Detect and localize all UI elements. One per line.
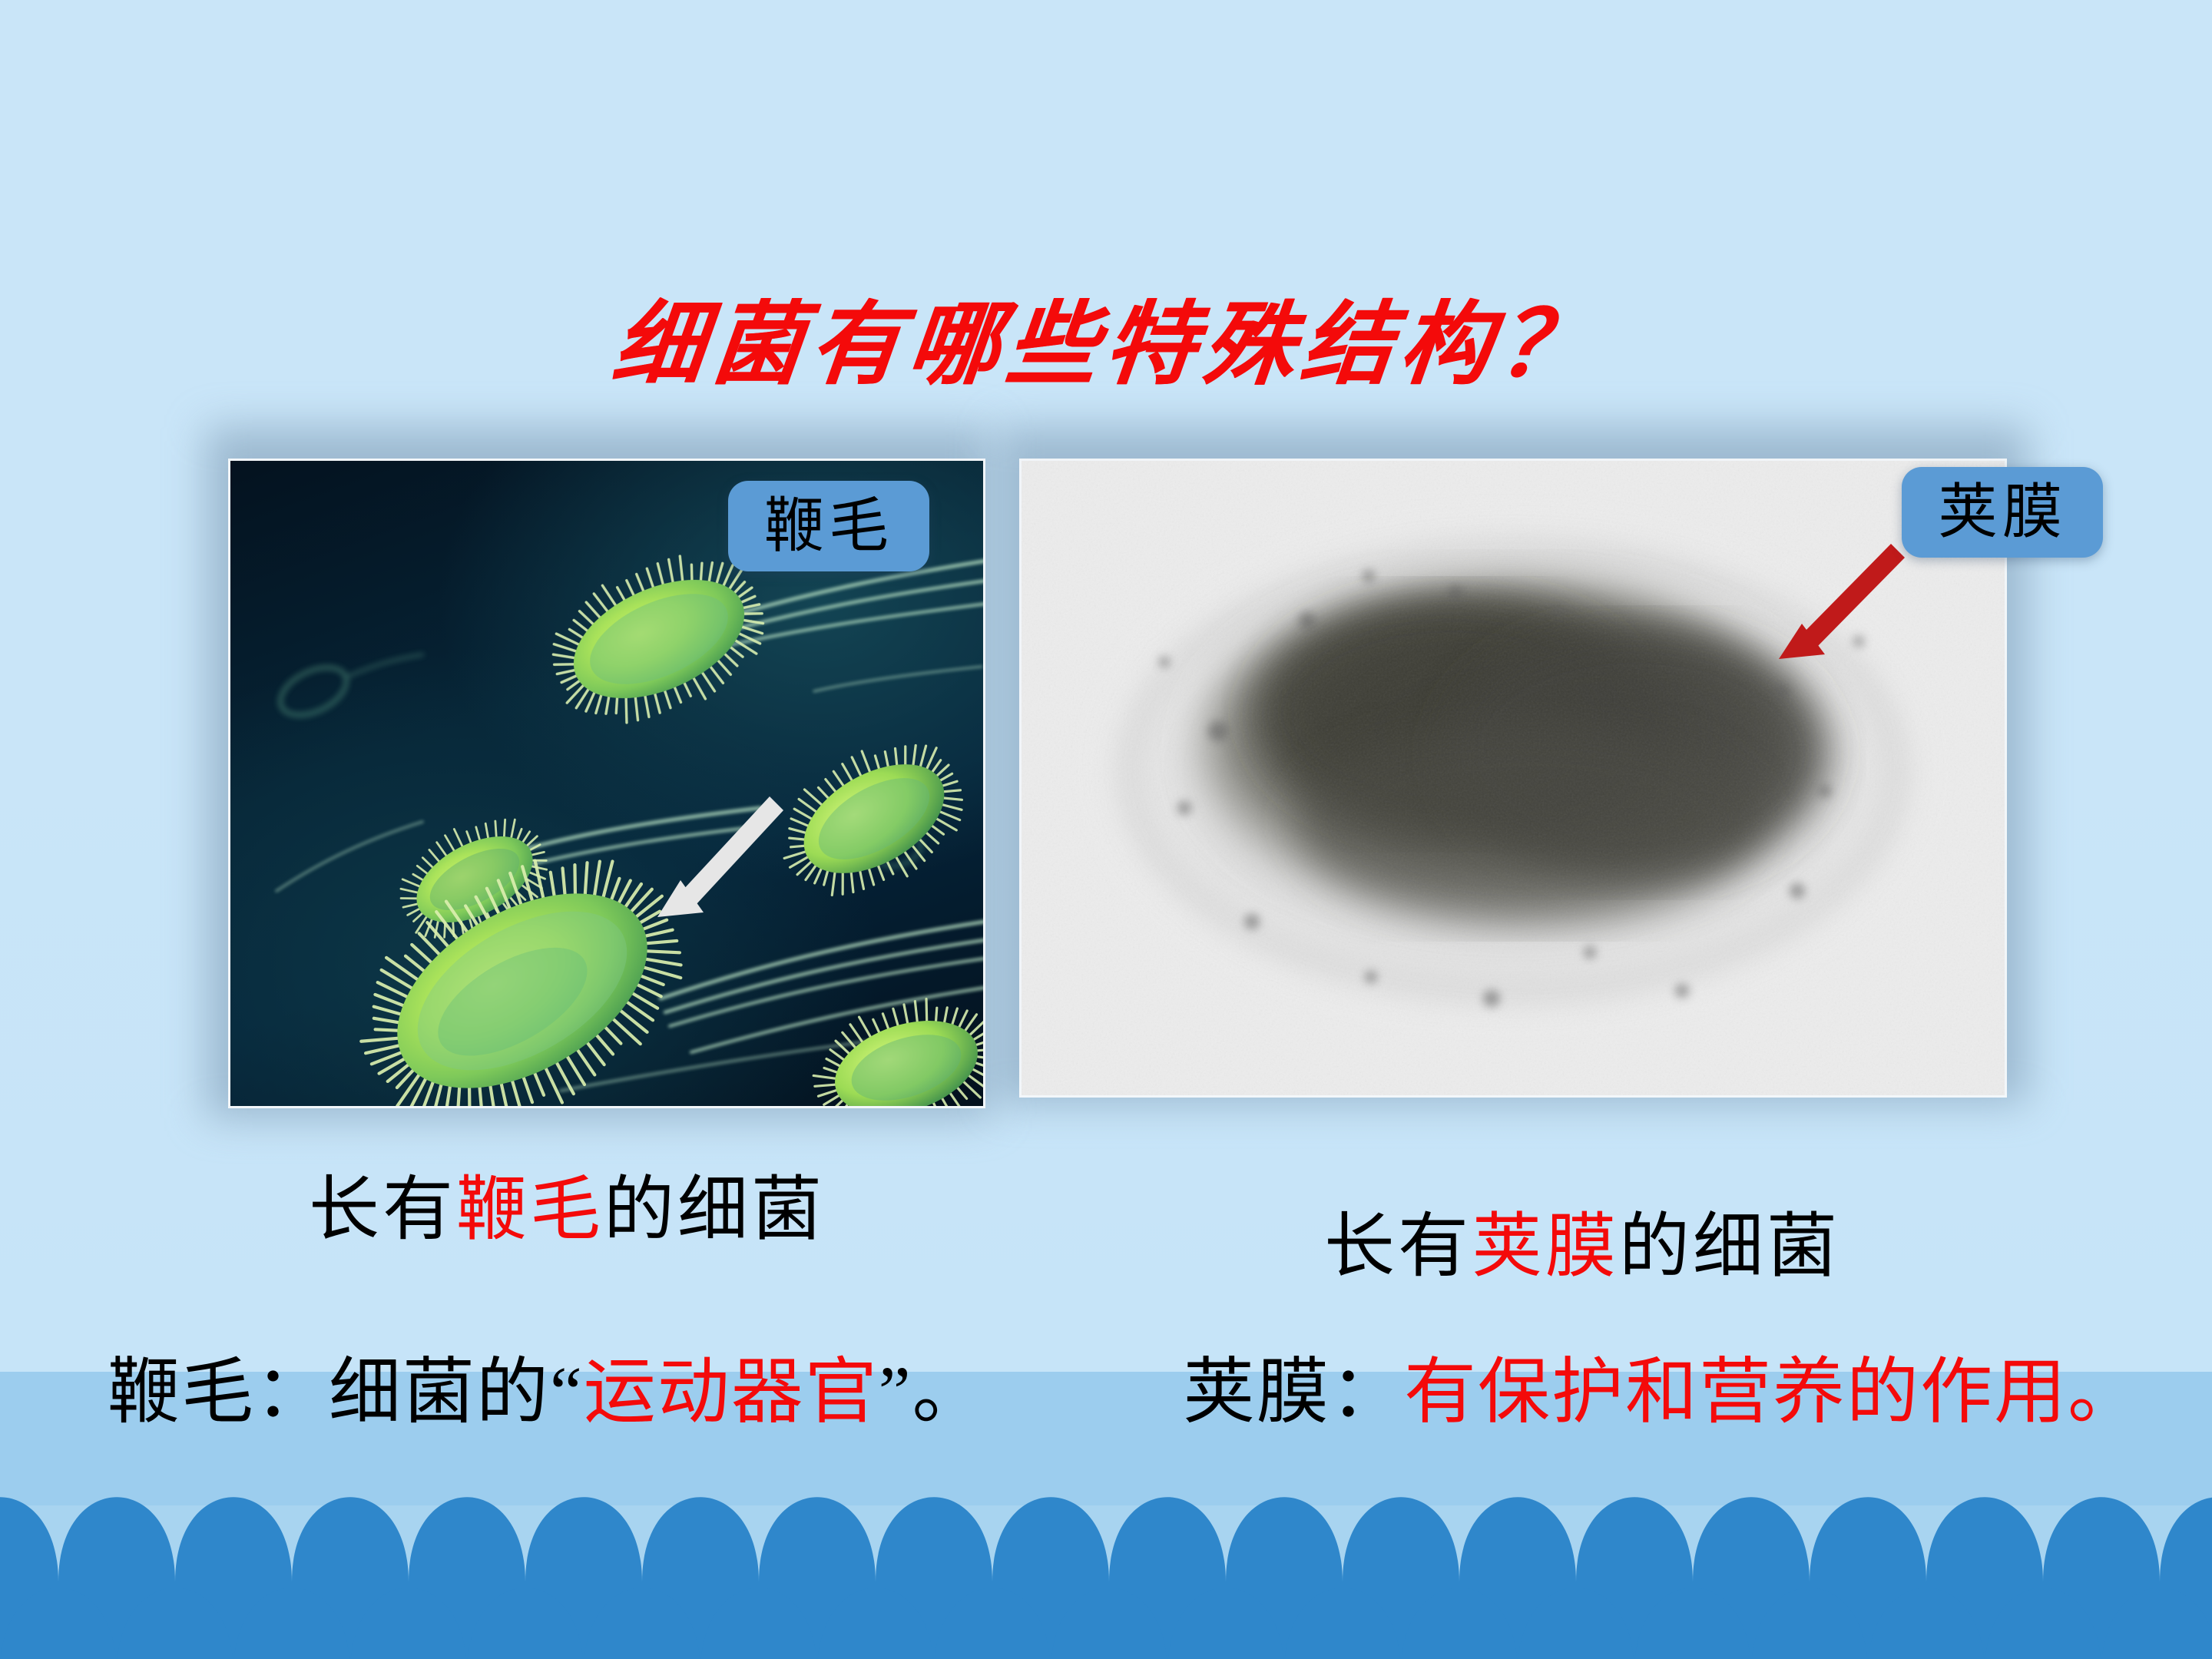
quote-close: ” xyxy=(879,1353,912,1432)
quote-open: “ xyxy=(550,1353,584,1432)
page-title: 细菌有哪些特殊结构？ xyxy=(0,270,2212,402)
definition-flagella-highlight: 运动器官 xyxy=(584,1353,879,1432)
definition-capsule: 荚膜：有保护和营养的作用。 xyxy=(1183,1333,2141,1438)
capsule-micrograph-image xyxy=(1022,461,2005,1095)
caption-left-post: 的细菌 xyxy=(604,1171,825,1249)
caption-right-image: 长有荚膜的细菌 xyxy=(1324,1189,1840,1291)
capsule-illustration xyxy=(1022,461,2005,1095)
callout-capsule[interactable]: 荚膜 xyxy=(1902,467,2103,558)
slide-canvas: 细菌有哪些特殊结构？ xyxy=(0,0,2212,1659)
caption-right-post: 的细菌 xyxy=(1619,1207,1840,1286)
definition-flagella: 鞭毛：细菌的“运动器官”。 xyxy=(108,1333,986,1438)
caption-left-image: 长有鞭毛的细菌 xyxy=(309,1152,825,1254)
definition-capsule-highlight: 有保护和营养的作用。 xyxy=(1404,1353,2141,1432)
caption-right-highlight: 荚膜 xyxy=(1472,1207,1619,1286)
caption-left-pre: 长有 xyxy=(309,1171,456,1249)
scallop-decoration-row-2 xyxy=(0,1581,2212,1659)
callout-flagella[interactable]: 鞭毛 xyxy=(728,481,929,571)
caption-right-pre: 长有 xyxy=(1324,1207,1472,1286)
definition-flagella-term: 鞭毛：细菌的 xyxy=(108,1353,550,1432)
definition-capsule-term: 荚膜： xyxy=(1183,1353,1404,1432)
caption-left-highlight: 鞭毛 xyxy=(456,1171,604,1249)
definition-flagella-end: 。 xyxy=(912,1353,986,1432)
